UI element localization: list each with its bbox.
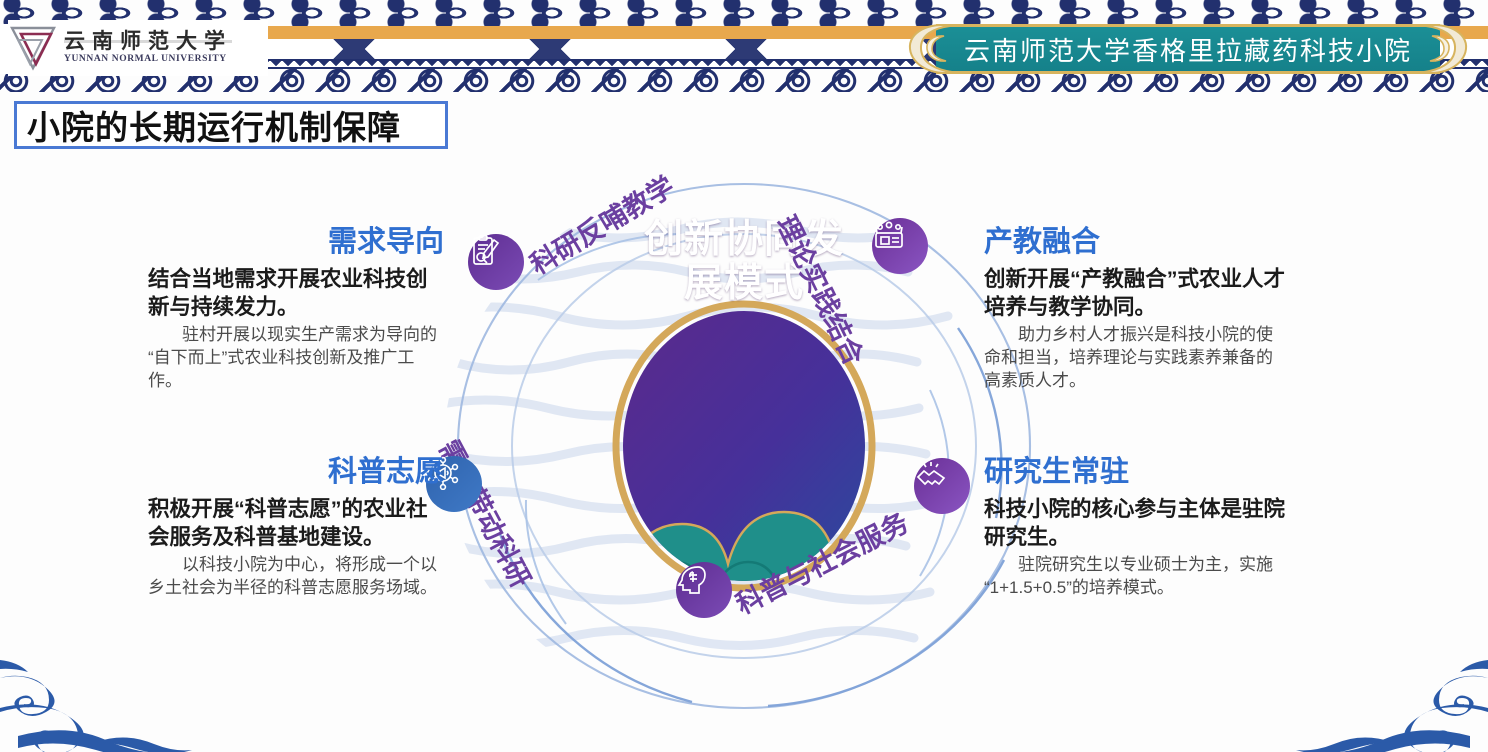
cloud-ornament-left-icon xyxy=(900,20,958,78)
brain-head-icon xyxy=(676,562,732,618)
corner-ornament-right-icon xyxy=(1158,660,1488,752)
triangle-logo-icon xyxy=(8,24,58,72)
university-logo: 云南师范大学 YUNNAN NORMAL UNIVERSITY xyxy=(8,20,268,76)
plaque-title: 云南师范大学香格里拉藏药科技小院 xyxy=(964,31,1412,68)
corner-ornament-left-icon xyxy=(0,660,330,752)
block-body: 以科技小院为中心，将形成一个以乡土社会为半径的科普志愿服务场域。 xyxy=(148,554,444,600)
block-graduate-residency: 研究生常驻 科技小院的核心参与主体是驻院研究生。 驻院研究生以专业硕士为主，实施… xyxy=(984,458,1286,600)
logo-cn-name: 云南师范大学 xyxy=(64,31,232,52)
block-lead: 结合当地需求开展农业科技创新与持续发力。 xyxy=(148,266,444,321)
clipboard-report-icon xyxy=(468,234,524,290)
block-heading: 研究生常驻 xyxy=(984,458,1286,487)
page-title: 小院的长期运行机制保障 xyxy=(27,101,401,149)
block-science-volunteer: 科普志愿 积极开展“科普志愿”的农业社会服务及科普基地建设。 以科技小院为中心，… xyxy=(148,458,444,600)
block-heading: 科普志愿 xyxy=(148,458,444,487)
presentation-team-icon xyxy=(872,218,928,274)
cloud-ornament-right-icon xyxy=(1418,20,1476,78)
handshake-icon xyxy=(914,458,970,514)
block-body: 驻村开展以现实生产需求为导向的“自下而上”式农业科技创新及推广工作。 xyxy=(148,324,444,392)
block-body: 助力乡村人才振兴是科技小院的使命和担当，培养理论与实践素养兼备的高素质人才。 xyxy=(984,324,1286,392)
header-ornament-band: 云南师范大学 YUNNAN NORMAL UNIVERSITY 云南师范大学香格… xyxy=(0,0,1488,92)
plaque-body: 云南师范大学香格里拉藏药科技小院 xyxy=(936,24,1440,74)
project-plaque: 云南师范大学香格里拉藏药科技小院 xyxy=(900,24,1476,74)
logo-en-name: YUNNAN NORMAL UNIVERSITY xyxy=(64,55,232,65)
block-heading: 需求导向 xyxy=(148,228,444,257)
block-body: 驻院研究生以专业硕士为主，实施“1+1.5+0.5”的培养模式。 xyxy=(984,554,1286,600)
page-title-box: 小院的长期运行机制保障 xyxy=(14,101,448,149)
block-lead: 创新开展“产教融合”式农业人才培养与教学协同。 xyxy=(984,266,1286,321)
block-lead: 积极开展“科普志愿”的农业社会服务及科普基地建设。 xyxy=(148,496,444,551)
block-demand-oriented: 需求导向 结合当地需求开展农业科技创新与持续发力。 驻村开展以现实生产需求为导向… xyxy=(148,228,444,392)
core-line-2: 展模式 xyxy=(684,262,804,305)
slide-canvas: 云南师范大学 YUNNAN NORMAL UNIVERSITY 云南师范大学香格… xyxy=(0,0,1488,752)
block-industry-education-integration: 产教融合 创新开展“产教融合”式农业人才培养与教学协同。 助力乡村人才振兴是科技… xyxy=(984,228,1286,392)
block-heading: 产教融合 xyxy=(984,228,1286,257)
block-lead: 科技小院的核心参与主体是驻院研究生。 xyxy=(984,496,1286,551)
logo-wordmark: 云南师范大学 YUNNAN NORMAL UNIVERSITY xyxy=(64,31,232,65)
